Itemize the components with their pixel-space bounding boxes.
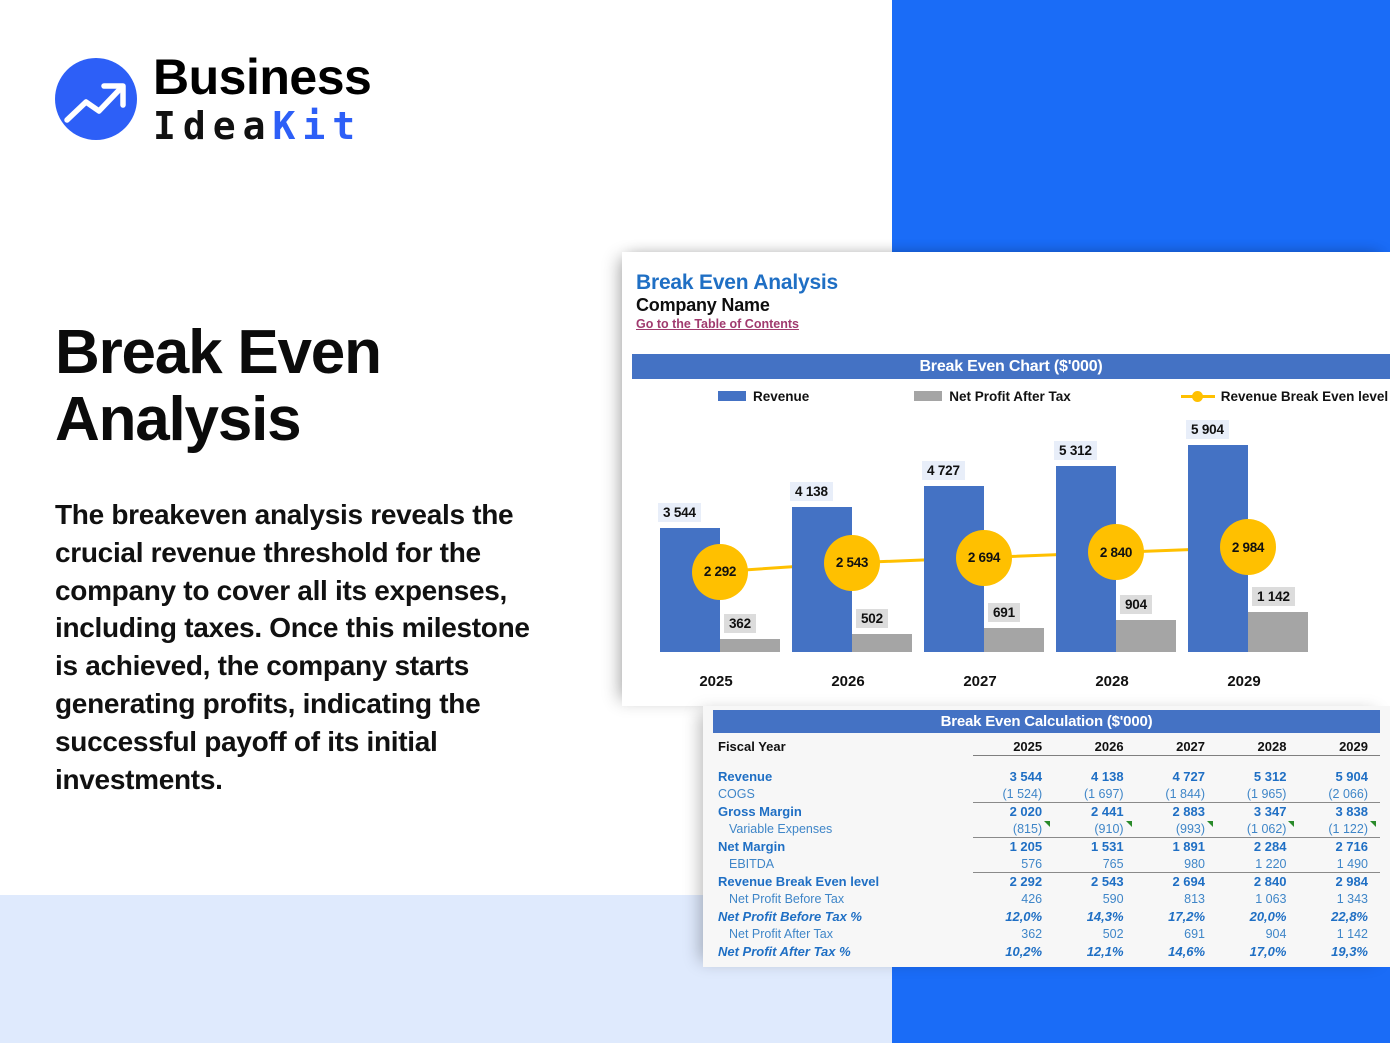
comment-marker-icon	[1207, 821, 1213, 827]
table-of-contents-link[interactable]: Go to the Table of Contents	[636, 317, 799, 331]
legend-marker-breakeven-icon	[1181, 390, 1215, 402]
cell-net-profit-before-tax-2027: 17,2%	[1136, 908, 1217, 926]
table-row-gross-margin: Gross Margin2 0202 4412 8833 3473 838	[713, 803, 1380, 821]
breakeven-node-2027: 2 694	[956, 530, 1012, 586]
cell-net-profit-after-tax-2028: 904	[1217, 925, 1298, 943]
column-header-fiscal-year: Fiscal Year	[713, 738, 973, 756]
row-label-net-margin: Net Margin	[713, 838, 973, 856]
x-axis-tick-2025: 2025	[650, 673, 782, 690]
chart-header-bar: Break Even Chart ($'000)	[632, 354, 1390, 379]
cell-cogs-2027: (1 844)	[1136, 785, 1217, 803]
cell-ebitda-2025: 576	[973, 855, 1054, 873]
table-row-net-profit-after-tax: Net Profit After Tax %10,2%12,1%14,6%17,…	[713, 943, 1380, 961]
table-row-cogs: COGS(1 524)(1 697)(1 844)(1 965)(2 066)	[713, 785, 1380, 803]
data-label-npat-2026: 502	[856, 609, 888, 628]
row-label-net-profit-after-tax: Net Profit After Tax	[713, 925, 973, 943]
table-row-ebitda: EBITDA5767659801 2201 490	[713, 855, 1380, 873]
page-title-line2: Analysis	[55, 387, 525, 454]
data-label-npat-2029: 1 142	[1252, 587, 1295, 606]
cell-gross-margin-2026: 2 441	[1054, 803, 1135, 821]
cell-net-profit-before-tax-2026: 590	[1054, 890, 1135, 908]
cell-net-margin-2028: 2 284	[1217, 838, 1298, 856]
row-label-revenue: Revenue	[713, 768, 973, 786]
cell-revenue-break-even-level-2029: 2 984	[1298, 873, 1380, 891]
cell-net-profit-before-tax-2025: 426	[973, 890, 1054, 908]
cell-revenue-2028: 5 312	[1217, 768, 1298, 786]
cell-revenue-2026: 4 138	[1054, 768, 1135, 786]
table-row-revenue-break-even-level: Revenue Break Even level2 2922 5432 6942…	[713, 873, 1380, 891]
cell-revenue-2027: 4 727	[1136, 768, 1217, 786]
cell-cogs-2029: (2 066)	[1298, 785, 1380, 803]
page-title-line1: Break Even	[55, 320, 525, 387]
cell-net-profit-before-tax-2028: 20,0%	[1217, 908, 1298, 926]
page-title: Break Even Analysis	[55, 320, 525, 454]
brand-name-line2-dark: Idea	[153, 104, 273, 148]
cell-revenue-break-even-level-2027: 2 694	[1136, 873, 1217, 891]
row-label-revenue-break-even-level: Revenue Break Even level	[713, 873, 973, 891]
data-label-npat-2027: 691	[988, 603, 1020, 622]
bar-npat-2028	[1116, 620, 1176, 652]
table-spacer-row	[713, 756, 1380, 768]
row-label-gross-margin: Gross Margin	[713, 803, 973, 821]
legend-swatch-npat-icon	[914, 391, 942, 401]
cell-net-margin-2026: 1 531	[1054, 838, 1135, 856]
chart-group-2026: 4 138502	[786, 412, 908, 652]
breakeven-node-2029: 2 984	[1220, 519, 1276, 575]
cell-net-margin-2025: 1 205	[973, 838, 1054, 856]
table-header-row: Fiscal Year 2025 2026 2027 2028 2029	[713, 738, 1380, 756]
table-row-revenue: Revenue3 5444 1384 7275 3125 904	[713, 768, 1380, 786]
cell-revenue-2025: 3 544	[973, 768, 1054, 786]
comment-marker-icon	[1288, 821, 1294, 827]
cell-net-profit-after-tax-2025: 362	[973, 925, 1054, 943]
cell-net-profit-after-tax-2026: 502	[1054, 925, 1135, 943]
bar-npat-2029	[1248, 612, 1308, 652]
cell-ebitda-2027: 980	[1136, 855, 1217, 873]
cell-variable-expenses-2027: (993)	[1136, 820, 1217, 838]
x-axis-tick-2029: 2029	[1178, 673, 1310, 690]
legend-item-net-profit-after-tax: Net Profit After Tax	[914, 389, 1071, 404]
cell-net-profit-before-tax-2025: 12,0%	[973, 908, 1054, 926]
cell-net-margin-2029: 2 716	[1298, 838, 1380, 856]
table-row-variable-expenses: Variable Expenses(815)(910)(993)(1 062)(…	[713, 820, 1380, 838]
sheet-company-name: Company Name	[636, 295, 770, 316]
table-row-net-margin: Net Margin1 2051 5311 8912 2842 716	[713, 838, 1380, 856]
cell-cogs-2026: (1 697)	[1054, 785, 1135, 803]
cell-net-profit-after-tax-2027: 14,6%	[1136, 943, 1217, 961]
cell-cogs-2025: (1 524)	[973, 785, 1054, 803]
column-header-year-2029: 2029	[1298, 738, 1380, 756]
cell-gross-margin-2029: 3 838	[1298, 803, 1380, 821]
cell-revenue-2029: 5 904	[1298, 768, 1380, 786]
data-label-revenue-2029: 5 904	[1186, 420, 1229, 439]
chart-legend: Revenue Net Profit After Tax Revenue Bre…	[632, 383, 1390, 409]
bar-npat-2025	[720, 639, 780, 652]
cell-variable-expenses-2029: (1 122)	[1298, 820, 1380, 838]
legend-swatch-revenue-icon	[718, 391, 746, 401]
data-label-revenue-2028: 5 312	[1054, 441, 1097, 460]
legend-label-revenue: Revenue	[753, 389, 809, 404]
cell-revenue-break-even-level-2026: 2 543	[1054, 873, 1135, 891]
data-label-revenue-2025: 3 544	[658, 503, 701, 522]
table-row-net-profit-before-tax: Net Profit Before Tax %12,0%14,3%17,2%20…	[713, 908, 1380, 926]
column-header-year-2028: 2028	[1217, 738, 1298, 756]
row-label-ebitda: EBITDA	[713, 855, 973, 873]
cell-variable-expenses-2026: (910)	[1054, 820, 1135, 838]
calculation-table-panel: Break Even Calculation ($'000) Fiscal Ye…	[703, 706, 1390, 967]
data-label-npat-2025: 362	[724, 614, 756, 633]
column-header-year-2025: 2025	[973, 738, 1054, 756]
legend-label-breakeven: Revenue Break Even level	[1221, 389, 1388, 404]
brand-logo: Business IdeaKit	[55, 52, 371, 145]
row-label-variable-expenses: Variable Expenses	[713, 820, 973, 838]
cell-net-profit-before-tax-2028: 1 063	[1217, 890, 1298, 908]
breakeven-node-2028: 2 840	[1088, 524, 1144, 580]
cell-net-profit-after-tax-2026: 12,1%	[1054, 943, 1135, 961]
cell-variable-expenses-2028: (1 062)	[1217, 820, 1298, 838]
table-row-net-profit-before-tax: Net Profit Before Tax4265908131 0631 343	[713, 890, 1380, 908]
cell-net-profit-before-tax-2029: 1 343	[1298, 890, 1380, 908]
cell-net-profit-after-tax-2025: 10,2%	[973, 943, 1054, 961]
data-label-revenue-2026: 4 138	[790, 482, 833, 501]
breakeven-node-2026: 2 543	[824, 535, 880, 591]
legend-item-revenue: Revenue	[718, 389, 809, 404]
x-axis-tick-2028: 2028	[1046, 673, 1178, 690]
cell-net-profit-before-tax-2027: 813	[1136, 890, 1217, 908]
legend-item-breakeven: Revenue Break Even level	[1181, 389, 1388, 404]
cell-gross-margin-2025: 2 020	[973, 803, 1054, 821]
break-even-calculation-table: Fiscal Year 2025 2026 2027 2028 2029 Rev…	[713, 738, 1380, 960]
cell-revenue-break-even-level-2025: 2 292	[973, 873, 1054, 891]
row-label-net-profit-before-tax: Net Profit Before Tax %	[713, 908, 973, 926]
cell-net-profit-before-tax-2026: 14,3%	[1054, 908, 1135, 926]
cell-gross-margin-2027: 2 883	[1136, 803, 1217, 821]
comment-marker-icon	[1370, 821, 1376, 827]
bar-npat-2026	[852, 634, 912, 652]
x-axis-tick-2026: 2026	[782, 673, 914, 690]
row-label-net-profit-before-tax: Net Profit Before Tax	[713, 890, 973, 908]
cell-net-margin-2027: 1 891	[1136, 838, 1217, 856]
row-label-cogs: COGS	[713, 785, 973, 803]
cell-variable-expenses-2025: (815)	[973, 820, 1054, 838]
brand-name-line1: Business	[153, 52, 371, 102]
cell-net-profit-before-tax-2029: 22,8%	[1298, 908, 1380, 926]
bar-npat-2027	[984, 628, 1044, 652]
cell-gross-margin-2028: 3 347	[1217, 803, 1298, 821]
chart-group-2025: 3 544362	[654, 412, 776, 652]
cell-net-profit-after-tax-2027: 691	[1136, 925, 1217, 943]
brand-name-line2-accent: Kit	[273, 104, 363, 148]
cell-revenue-break-even-level-2028: 2 840	[1217, 873, 1298, 891]
background-block-top-right	[892, 0, 1390, 258]
x-axis-tick-2027: 2027	[914, 673, 1046, 690]
column-header-year-2027: 2027	[1136, 738, 1217, 756]
chart-panel: Break Even Analysis Company Name Go to t…	[622, 252, 1390, 706]
comment-marker-icon	[1126, 821, 1132, 827]
data-label-revenue-2027: 4 727	[922, 461, 965, 480]
row-label-net-profit-after-tax: Net Profit After Tax %	[713, 943, 973, 961]
legend-label-npat: Net Profit After Tax	[949, 389, 1071, 404]
cell-net-profit-after-tax-2028: 17,0%	[1217, 943, 1298, 961]
slide-canvas: Business IdeaKit Break Even Analysis The…	[0, 0, 1390, 1043]
table-header-bar: Break Even Calculation ($'000)	[713, 710, 1380, 733]
breakeven-node-2025: 2 292	[692, 544, 748, 600]
trend-arrow-up-icon	[55, 58, 137, 140]
sheet-title: Break Even Analysis	[636, 271, 838, 295]
data-label-npat-2028: 904	[1120, 595, 1152, 614]
cell-ebitda-2026: 765	[1054, 855, 1135, 873]
cell-cogs-2028: (1 965)	[1217, 785, 1298, 803]
cell-net-profit-after-tax-2029: 19,3%	[1298, 943, 1380, 961]
cell-ebitda-2029: 1 490	[1298, 855, 1380, 873]
cell-net-profit-after-tax-2029: 1 142	[1298, 925, 1380, 943]
comment-marker-icon	[1044, 821, 1050, 827]
table-row-net-profit-after-tax: Net Profit After Tax3625026919041 142	[713, 925, 1380, 943]
page-body-text: The breakeven analysis reveals the cruci…	[55, 496, 550, 798]
cell-ebitda-2028: 1 220	[1217, 855, 1298, 873]
column-header-year-2026: 2026	[1054, 738, 1135, 756]
chart-plot-area: 3 5443624 1385024 7276915 3129045 9041 1…	[632, 412, 1390, 704]
